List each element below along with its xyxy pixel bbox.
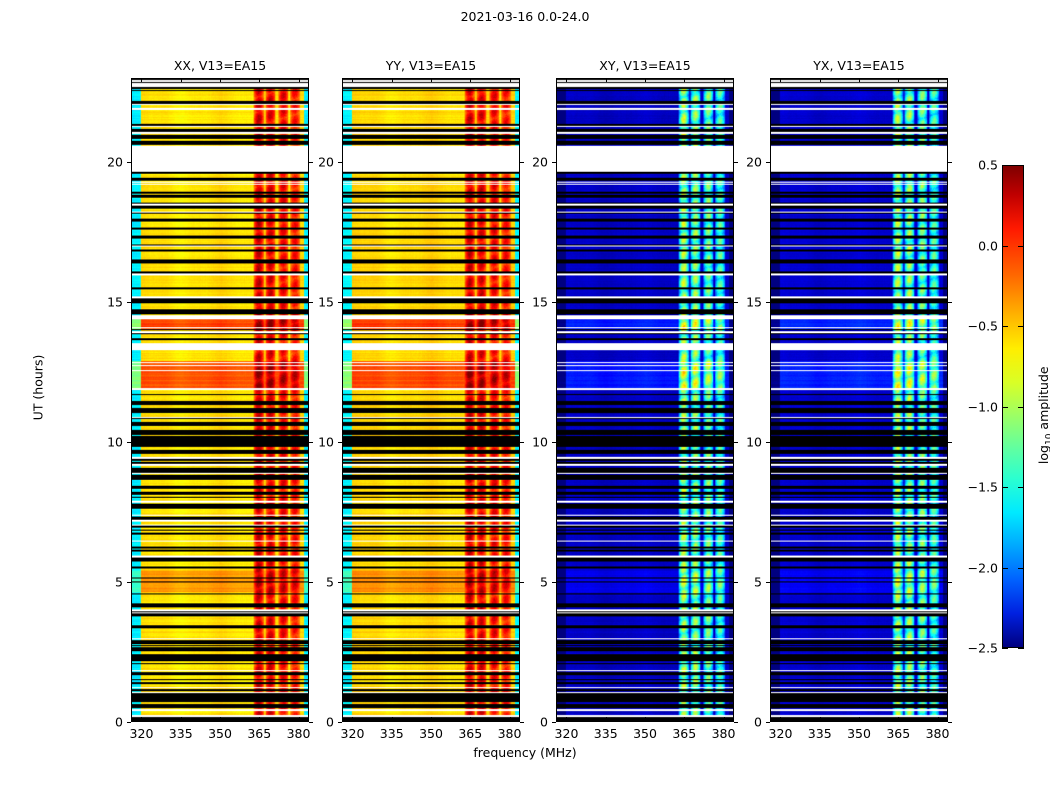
y-tickmark bbox=[766, 442, 770, 443]
panel-title-xx: XX, V13=EA15 bbox=[131, 58, 309, 76]
waterfall-image-xx bbox=[132, 79, 308, 721]
x-tickmark bbox=[724, 717, 725, 721]
y-tickmark-right bbox=[948, 442, 952, 443]
x-tickmark bbox=[352, 717, 353, 721]
x-tick-label: 320 bbox=[555, 726, 579, 741]
y-tickmark bbox=[338, 162, 342, 163]
y-tick-label: 0 bbox=[300, 715, 334, 730]
y-tick-label: 0 bbox=[728, 715, 762, 730]
colorbar-tickmark bbox=[1002, 487, 1008, 488]
x-tickmark bbox=[820, 717, 821, 721]
y-tickmark-right bbox=[948, 722, 952, 723]
y-tick-label: 5 bbox=[300, 575, 334, 590]
waterfall-image-xy bbox=[557, 79, 733, 721]
x-tickmark-top bbox=[220, 78, 221, 82]
y-tick-label: 5 bbox=[514, 575, 548, 590]
y-tickmark bbox=[338, 582, 342, 583]
x-tickmark-top bbox=[606, 78, 607, 82]
colorbar-tickmark-right bbox=[1018, 246, 1024, 247]
figure-suptitle: 2021-03-16 0.0-24.0 bbox=[0, 9, 1050, 24]
y-tickmark bbox=[552, 442, 556, 443]
colorbar-tickmark bbox=[1002, 165, 1008, 166]
colorbar-tickmark bbox=[1002, 407, 1008, 408]
x-tick-label: 365 bbox=[458, 726, 482, 741]
x-tickmark-top bbox=[431, 78, 432, 82]
y-tickmark bbox=[552, 162, 556, 163]
x-tickmark bbox=[859, 717, 860, 721]
x-tickmark bbox=[392, 717, 393, 721]
y-tick-label: 10 bbox=[300, 435, 334, 450]
x-tickmark bbox=[684, 717, 685, 721]
x-tick-label: 365 bbox=[247, 726, 271, 741]
y-tickmark bbox=[766, 722, 770, 723]
colorbar-tickmark-right bbox=[1018, 568, 1024, 569]
x-tickmark bbox=[431, 717, 432, 721]
x-tick-label: 380 bbox=[926, 726, 950, 741]
x-axis-label: frequency (MHz) bbox=[0, 745, 1050, 760]
x-tickmark bbox=[938, 717, 939, 721]
waterfall-panel-yx[interactable] bbox=[770, 78, 948, 722]
x-tickmark-top bbox=[684, 78, 685, 82]
colorbar-tick-label: −1.5 bbox=[938, 480, 998, 495]
x-tick-label: 335 bbox=[594, 726, 618, 741]
x-tick-label: 320 bbox=[130, 726, 154, 741]
x-tickmark bbox=[141, 717, 142, 721]
x-tickmark-top bbox=[820, 78, 821, 82]
colorbar-tickmark-right bbox=[1018, 487, 1024, 488]
x-tickmark-top bbox=[141, 78, 142, 82]
colorbar-tick-label: 0.5 bbox=[938, 158, 998, 173]
x-tickmark bbox=[470, 717, 471, 721]
colorbar-tickmark bbox=[1002, 648, 1008, 649]
x-tick-label: 335 bbox=[380, 726, 404, 741]
waterfall-panel-xy[interactable] bbox=[556, 78, 734, 722]
x-tickmark-top bbox=[724, 78, 725, 82]
y-tickmark bbox=[766, 162, 770, 163]
x-tickmark bbox=[181, 717, 182, 721]
x-tick-label: 365 bbox=[886, 726, 910, 741]
y-tick-label: 15 bbox=[89, 295, 123, 310]
y-tickmark bbox=[127, 442, 131, 443]
y-tick-label: 10 bbox=[514, 435, 548, 450]
y-tick-label: 5 bbox=[89, 575, 123, 590]
colorbar-tick-label: −2.0 bbox=[938, 560, 998, 575]
y-axis-label: UT (hours) bbox=[31, 308, 46, 468]
y-tick-label: 15 bbox=[514, 295, 548, 310]
colorbar-tickmark bbox=[1002, 246, 1008, 247]
y-tickmark bbox=[552, 302, 556, 303]
waterfall-image-yx bbox=[771, 79, 947, 721]
x-tickmark bbox=[259, 717, 260, 721]
x-tick-label: 350 bbox=[419, 726, 443, 741]
figure-canvas: 2021-03-16 0.0-24.0 XX, V13=EA15 YY, V13… bbox=[0, 0, 1050, 800]
x-tickmark-top bbox=[259, 78, 260, 82]
x-tickmark bbox=[510, 717, 511, 721]
colorbar-tickmark-right bbox=[1018, 326, 1024, 327]
colorbar-tick-label: −2.5 bbox=[938, 641, 998, 656]
x-tickmark-top bbox=[566, 78, 567, 82]
x-tickmark bbox=[645, 717, 646, 721]
y-tickmark bbox=[552, 722, 556, 723]
colorbar-tick-label: −1.0 bbox=[938, 399, 998, 414]
x-tickmark bbox=[898, 717, 899, 721]
x-tickmark-top bbox=[938, 78, 939, 82]
y-tickmark bbox=[127, 302, 131, 303]
y-tick-label: 20 bbox=[514, 155, 548, 170]
waterfall-image-yy bbox=[343, 79, 519, 721]
y-tickmark bbox=[127, 582, 131, 583]
y-tick-label: 10 bbox=[728, 435, 762, 450]
x-tickmark-top bbox=[780, 78, 781, 82]
y-tick-label: 5 bbox=[728, 575, 762, 590]
y-tickmark bbox=[766, 302, 770, 303]
colorbar-tickmark-right bbox=[1018, 648, 1024, 649]
x-tickmark-top bbox=[510, 78, 511, 82]
x-tick-label: 320 bbox=[341, 726, 365, 741]
x-tickmark bbox=[606, 717, 607, 721]
x-tickmark bbox=[566, 717, 567, 721]
x-tickmark bbox=[780, 717, 781, 721]
colorbar-tickmark-right bbox=[1018, 407, 1024, 408]
x-tickmark-top bbox=[392, 78, 393, 82]
y-tick-label: 0 bbox=[514, 715, 548, 730]
x-tick-label: 320 bbox=[769, 726, 793, 741]
colorbar-label: log10 amplitude bbox=[1036, 335, 1050, 495]
x-tickmark-top bbox=[898, 78, 899, 82]
y-tickmark bbox=[552, 582, 556, 583]
y-tick-label: 20 bbox=[728, 155, 762, 170]
x-tickmark bbox=[220, 717, 221, 721]
x-tick-label: 335 bbox=[169, 726, 193, 741]
y-tickmark bbox=[127, 162, 131, 163]
x-tickmark-top bbox=[352, 78, 353, 82]
x-tickmark-top bbox=[299, 78, 300, 82]
colorbar-tickmark-right bbox=[1018, 165, 1024, 166]
y-tick-label: 15 bbox=[728, 295, 762, 310]
y-tick-label: 20 bbox=[300, 155, 334, 170]
y-tick-label: 20 bbox=[89, 155, 123, 170]
x-tick-label: 335 bbox=[808, 726, 832, 741]
x-tick-label: 350 bbox=[847, 726, 871, 741]
y-tickmark bbox=[338, 722, 342, 723]
y-tick-label: 10 bbox=[89, 435, 123, 450]
y-tickmark bbox=[766, 582, 770, 583]
x-tick-label: 350 bbox=[208, 726, 232, 741]
waterfall-panel-xx[interactable] bbox=[131, 78, 309, 722]
x-tickmark-top bbox=[470, 78, 471, 82]
panel-title-yy: YY, V13=EA15 bbox=[342, 58, 520, 76]
y-tickmark-right bbox=[948, 302, 952, 303]
x-tickmark-top bbox=[859, 78, 860, 82]
x-tick-label: 350 bbox=[633, 726, 657, 741]
x-tickmark-top bbox=[181, 78, 182, 82]
x-tickmark-top bbox=[645, 78, 646, 82]
panel-title-yx: YX, V13=EA15 bbox=[770, 58, 948, 76]
colorbar-tickmark bbox=[1002, 326, 1008, 327]
panel-title-xy: XY, V13=EA15 bbox=[556, 58, 734, 76]
y-tickmark bbox=[338, 442, 342, 443]
colorbar-tick-label: −0.5 bbox=[938, 319, 998, 334]
y-tickmark-right bbox=[948, 582, 952, 583]
y-tickmark bbox=[338, 302, 342, 303]
y-tickmark bbox=[127, 722, 131, 723]
y-tick-label: 0 bbox=[89, 715, 123, 730]
waterfall-panel-yy[interactable] bbox=[342, 78, 520, 722]
y-tick-label: 15 bbox=[300, 295, 334, 310]
colorbar-tickmark bbox=[1002, 568, 1008, 569]
colorbar-tick-label: 0.0 bbox=[938, 238, 998, 253]
x-tick-label: 365 bbox=[672, 726, 696, 741]
